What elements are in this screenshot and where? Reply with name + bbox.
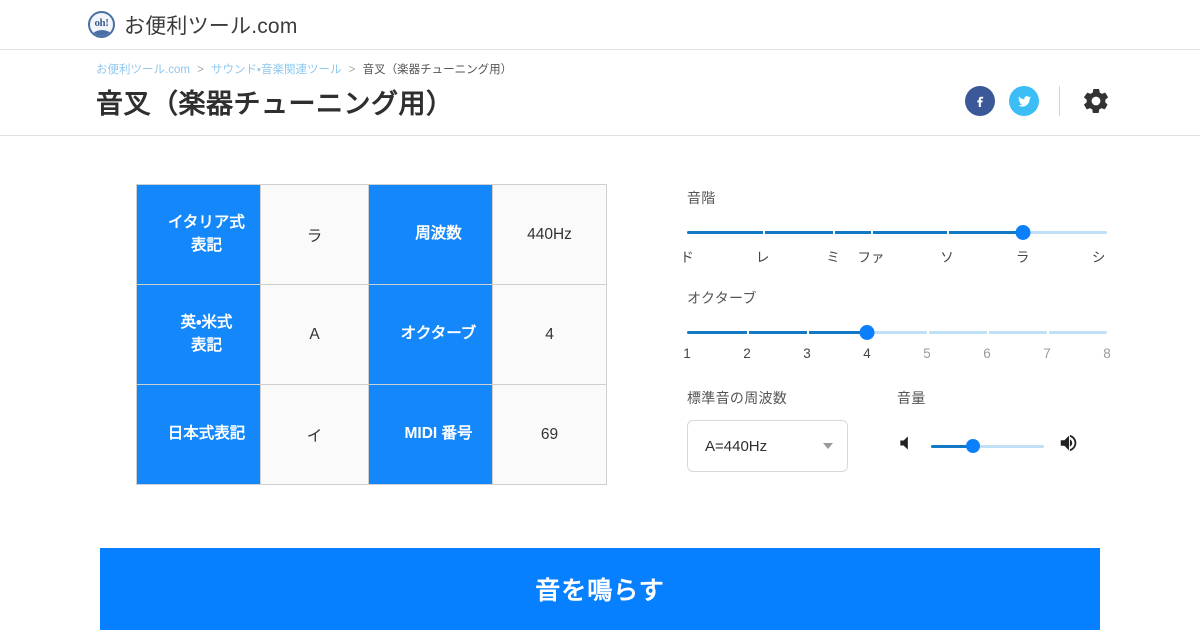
note-info-table-wrapper: イタリア式 表記 ラ 周波数 440Hz 英・米式 表記 A オクターブ bbox=[136, 184, 607, 485]
scale-slider-label: 音階 bbox=[687, 188, 1107, 208]
octave-slider[interactable] bbox=[687, 326, 1107, 338]
scale-tick-3: ファ bbox=[857, 246, 884, 266]
table-row: 英・米式 表記 A オクターブ 4 bbox=[137, 285, 607, 385]
facebook-share-icon[interactable] bbox=[965, 86, 995, 116]
breadcrumb: お便利ツール.com > サウンド・音楽関連ツール > 音叉（楽器チューニング用… bbox=[96, 62, 512, 78]
octave-tick-4: 4 bbox=[863, 346, 871, 361]
breadcrumb-separator: > bbox=[349, 64, 356, 76]
octave-tick-3: 3 bbox=[803, 346, 811, 361]
volume-slider[interactable] bbox=[931, 439, 1044, 453]
scale-slider-fill bbox=[687, 231, 1023, 234]
standard-frequency-block: 標準音の周波数 A=440Hz bbox=[687, 388, 897, 472]
top-bar: oh! お便利ツール.com bbox=[0, 0, 1200, 50]
row-label-italian: イタリア式 表記 bbox=[137, 185, 261, 285]
breadcrumb-item-0[interactable]: お便利ツール.com bbox=[96, 64, 190, 76]
row-label-english-line2: 表記 bbox=[191, 337, 222, 354]
table-row: イタリア式 表記 ラ 周波数 440Hz bbox=[137, 185, 607, 285]
scale-tick-6: シ bbox=[1092, 246, 1106, 266]
row-label-octave: オクターブ bbox=[369, 285, 493, 385]
main-content: イタリア式 表記 ラ 周波数 440Hz 英・米式 表記 A オクターブ bbox=[0, 136, 1200, 485]
row-value-japanese: イ bbox=[261, 385, 369, 485]
row-value-octave: 4 bbox=[493, 285, 607, 385]
scale-slider[interactable] bbox=[687, 226, 1107, 238]
volume-control bbox=[897, 432, 1080, 459]
controls-panel: 音階 ドレミファソラシ オクターブ bbox=[687, 184, 1107, 485]
header-divider bbox=[1059, 86, 1060, 116]
row-label-japanese: 日本式表記 bbox=[137, 385, 261, 485]
volume-low-icon[interactable] bbox=[897, 433, 917, 458]
page-header: お便利ツール.com > サウンド・音楽関連ツール > 音叉（楽器チューニング用… bbox=[0, 50, 1200, 136]
chevron-down-icon bbox=[823, 443, 833, 449]
row-label-english-line1: 英・米式 bbox=[181, 314, 233, 331]
scale-tick-0: ド bbox=[680, 246, 694, 266]
standard-frequency-select[interactable]: A=440Hz bbox=[687, 420, 848, 472]
twitter-share-icon[interactable] bbox=[1009, 86, 1039, 116]
row-label-italian-line1: イタリア式 bbox=[168, 214, 245, 231]
row-label-frequency: 周波数 bbox=[369, 185, 493, 285]
octave-tick-5: 5 bbox=[923, 346, 931, 361]
octave-tick-8: 8 bbox=[1103, 346, 1111, 361]
play-sound-button[interactable]: 音を鳴らす bbox=[100, 548, 1100, 630]
oh-badge-icon: oh! bbox=[88, 11, 115, 38]
octave-slider-label: オクターブ bbox=[687, 288, 1107, 308]
site-name: お便利ツール.com bbox=[124, 10, 298, 40]
row-value-frequency: 440Hz bbox=[493, 185, 607, 285]
row-value-midi: 69 bbox=[493, 385, 607, 485]
table-row: 日本式表記 イ MIDI 番号 69 bbox=[137, 385, 607, 485]
page-title: 音叉（楽器チューニング用） bbox=[96, 82, 512, 121]
row-label-midi: MIDI 番号 bbox=[369, 385, 493, 485]
row-value-italian: ラ bbox=[261, 185, 369, 285]
page-root: oh! お便利ツール.com お便利ツール.com > サウンド・音楽関連ツール… bbox=[0, 0, 1200, 630]
header-actions bbox=[965, 85, 1112, 121]
logo-badge-text: oh! bbox=[94, 18, 108, 29]
octave-tick-6: 6 bbox=[983, 346, 991, 361]
scale-tick-1: レ bbox=[756, 246, 770, 266]
volume-slider-thumb[interactable] bbox=[966, 439, 980, 453]
site-logo[interactable]: oh! お便利ツール.com bbox=[88, 10, 298, 40]
volume-block: 音量 bbox=[897, 388, 1080, 459]
row-value-english: A bbox=[261, 285, 369, 385]
breadcrumb-separator: > bbox=[197, 64, 204, 76]
volume-high-icon[interactable] bbox=[1058, 432, 1080, 459]
standard-frequency-value: A=440Hz bbox=[705, 438, 767, 455]
row-label-italian-line2: 表記 bbox=[191, 237, 222, 254]
octave-slider-fill bbox=[687, 331, 867, 334]
logo-smile-shape bbox=[90, 30, 114, 38]
scale-tick-labels: ドレミファソラシ bbox=[687, 244, 1107, 266]
octave-tick-7: 7 bbox=[1043, 346, 1051, 361]
header-left: お便利ツール.com > サウンド・音楽関連ツール > 音叉（楽器チューニング用… bbox=[96, 62, 512, 121]
scale-tick-5: ラ bbox=[1016, 246, 1030, 266]
octave-tick-1: 1 bbox=[683, 346, 691, 361]
octave-slider-thumb[interactable] bbox=[860, 325, 875, 340]
note-info-table: イタリア式 表記 ラ 周波数 440Hz 英・米式 表記 A オクターブ bbox=[136, 184, 607, 485]
gear-icon[interactable] bbox=[1080, 85, 1112, 117]
volume-label: 音量 bbox=[897, 388, 1080, 408]
standard-frequency-label: 標準音の周波数 bbox=[687, 388, 897, 408]
breadcrumb-item-1[interactable]: サウンド・音楽関連ツール bbox=[211, 64, 341, 76]
breadcrumb-item-2: 音叉（楽器チューニング用） bbox=[363, 64, 513, 76]
scale-tick-2: ミ bbox=[826, 246, 840, 266]
octave-tick-2: 2 bbox=[743, 346, 751, 361]
scale-slider-thumb[interactable] bbox=[1016, 225, 1031, 240]
secondary-controls: 標準音の周波数 A=440Hz 音量 bbox=[687, 388, 1107, 472]
octave-tick-labels: 12345678 bbox=[687, 344, 1107, 366]
scale-tick-4: ソ bbox=[940, 246, 954, 266]
row-label-english: 英・米式 表記 bbox=[137, 285, 261, 385]
